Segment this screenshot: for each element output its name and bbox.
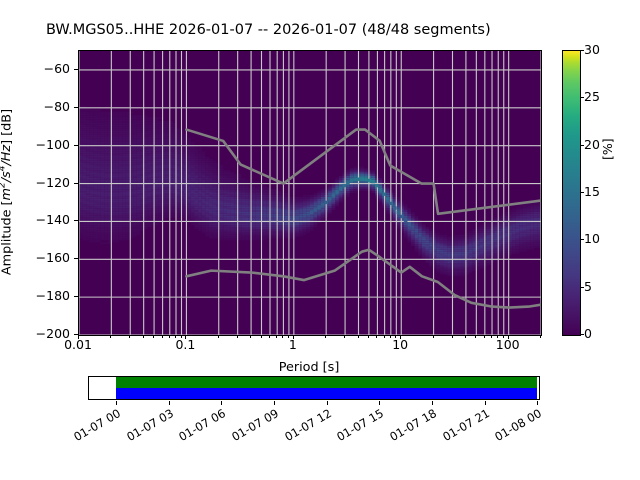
colorbar-tick-label: 5 — [584, 279, 592, 294]
time-tick-mark — [432, 401, 433, 405]
y-tick-label: −160 — [0, 250, 70, 265]
x-minor-tick-mark — [218, 335, 219, 338]
x-minor-tick-mark — [288, 335, 289, 338]
x-minor-tick-mark — [484, 335, 485, 338]
x-minor-tick-mark — [110, 335, 111, 338]
colorbar-tick-mark — [580, 145, 584, 146]
x-minor-tick-mark — [250, 335, 251, 338]
x-minor-tick-mark — [282, 335, 283, 338]
colorbar-tick-mark — [580, 334, 584, 335]
x-minor-tick-mark — [162, 335, 163, 338]
x-minor-tick-mark — [540, 335, 541, 338]
x-minor-tick-mark — [237, 335, 238, 338]
x-tick-mark — [78, 335, 79, 339]
ppsd-canvas — [79, 51, 541, 335]
y-tick-mark — [74, 69, 78, 70]
ppsd-plot-area[interactable] — [78, 50, 542, 336]
x-minor-tick-mark — [261, 335, 262, 338]
x-minor-tick-mark — [433, 335, 434, 338]
x-minor-tick-mark — [475, 335, 476, 338]
colorbar-tick-mark — [580, 97, 584, 98]
time-tick-mark — [485, 401, 486, 405]
x-tick-label: 0.1 — [175, 337, 195, 352]
colorbar-tick-mark — [580, 50, 584, 51]
x-minor-tick-mark — [384, 335, 385, 338]
colorbar-tick-label: 30 — [584, 42, 600, 57]
x-minor-tick-mark — [465, 335, 466, 338]
x-minor-tick-mark — [276, 335, 277, 338]
coverage-segment-blue — [116, 388, 537, 399]
x-minor-tick-mark — [491, 335, 492, 338]
time-tick-mark — [274, 401, 275, 405]
x-minor-tick-mark — [395, 335, 396, 338]
time-tick-label: 01-07 21 — [434, 406, 491, 447]
time-tick-label: 01-08 00 — [487, 406, 544, 447]
colorbar-tick-label: 0 — [584, 326, 592, 341]
x-tick-label: 100 — [496, 337, 520, 352]
time-tick-mark — [169, 401, 170, 405]
x-tick-label: 10 — [392, 337, 408, 352]
x-tick-mark — [293, 335, 294, 339]
x-tick-label: 0.01 — [64, 337, 92, 352]
colorbar-tick-mark — [580, 287, 584, 288]
x-minor-tick-mark — [344, 335, 345, 338]
y-tick-mark — [74, 107, 78, 108]
colorbar-tick-label: 25 — [584, 89, 600, 104]
y-tick-label: −60 — [0, 61, 70, 76]
y-tick-label: −80 — [0, 99, 70, 114]
time-tick-mark — [537, 401, 538, 405]
y-tick-label: −100 — [0, 137, 70, 152]
y-tick-mark — [74, 296, 78, 297]
x-minor-tick-mark — [376, 335, 377, 338]
y-tick-label: −200 — [0, 326, 70, 341]
time-tick-label: 01-07 18 — [382, 406, 439, 447]
x-minor-tick-mark — [452, 335, 453, 338]
x-minor-tick-mark — [169, 335, 170, 338]
page-title: BW.MGS05..HHE 2026-01-07 -- 2026-01-07 (… — [46, 22, 586, 42]
y-tick-mark — [74, 145, 78, 146]
x-axis-label: Period [s] — [78, 360, 540, 375]
colorbar-label: [%] — [600, 138, 615, 160]
ppsd-histogram — [79, 106, 541, 276]
y-tick-label: −180 — [0, 288, 70, 303]
ppsd-figure: BW.MGS05..HHE 2026-01-07 -- 2026-01-07 (… — [0, 0, 640, 480]
time-tick-label: 01-07 12 — [276, 406, 333, 447]
colorbar-tick-label: 20 — [584, 137, 600, 152]
time-tick-label: 01-07 06 — [171, 406, 228, 447]
x-minor-tick-mark — [390, 335, 391, 338]
time-coverage-bar[interactable] — [88, 376, 540, 400]
time-tick-mark — [379, 401, 380, 405]
x-minor-tick-mark — [153, 335, 154, 338]
colorbar[interactable] — [562, 50, 581, 336]
time-tick-mark — [327, 401, 328, 405]
x-minor-tick-mark — [368, 335, 369, 338]
time-tick-label: 01-07 09 — [224, 406, 281, 447]
x-tick-mark — [185, 335, 186, 339]
y-axis-label-math: m2/s4/Hz — [0, 145, 14, 201]
x-minor-tick-mark — [358, 335, 359, 338]
x-minor-tick-mark — [129, 335, 130, 338]
x-tick-mark — [508, 335, 509, 339]
time-tick-label: 01-07 03 — [118, 406, 175, 447]
colorbar-tick-mark — [580, 192, 584, 193]
x-minor-tick-mark — [269, 335, 270, 338]
y-tick-label: −140 — [0, 212, 70, 227]
time-tick-label: 01-07 15 — [329, 406, 386, 447]
colorbar-tick-label: 10 — [584, 231, 600, 246]
time-tick-label: 01-07 00 — [66, 406, 123, 447]
colorbar-tick-label: 15 — [584, 184, 600, 199]
x-minor-tick-mark — [503, 335, 504, 338]
colorbar-tick-mark — [580, 239, 584, 240]
x-minor-tick-mark — [325, 335, 326, 338]
x-tick-mark — [400, 335, 401, 339]
coverage-segment-green — [116, 377, 537, 388]
x-minor-tick-mark — [497, 335, 498, 338]
y-tick-mark — [74, 258, 78, 259]
x-tick-label: 1 — [289, 337, 297, 352]
x-minor-tick-mark — [181, 335, 182, 338]
y-tick-mark — [74, 183, 78, 184]
x-minor-tick-mark — [143, 335, 144, 338]
x-minor-tick-mark — [175, 335, 176, 338]
y-tick-label: −120 — [0, 175, 70, 190]
y-tick-mark — [74, 220, 78, 221]
time-tick-mark — [116, 401, 117, 405]
time-tick-mark — [221, 401, 222, 405]
